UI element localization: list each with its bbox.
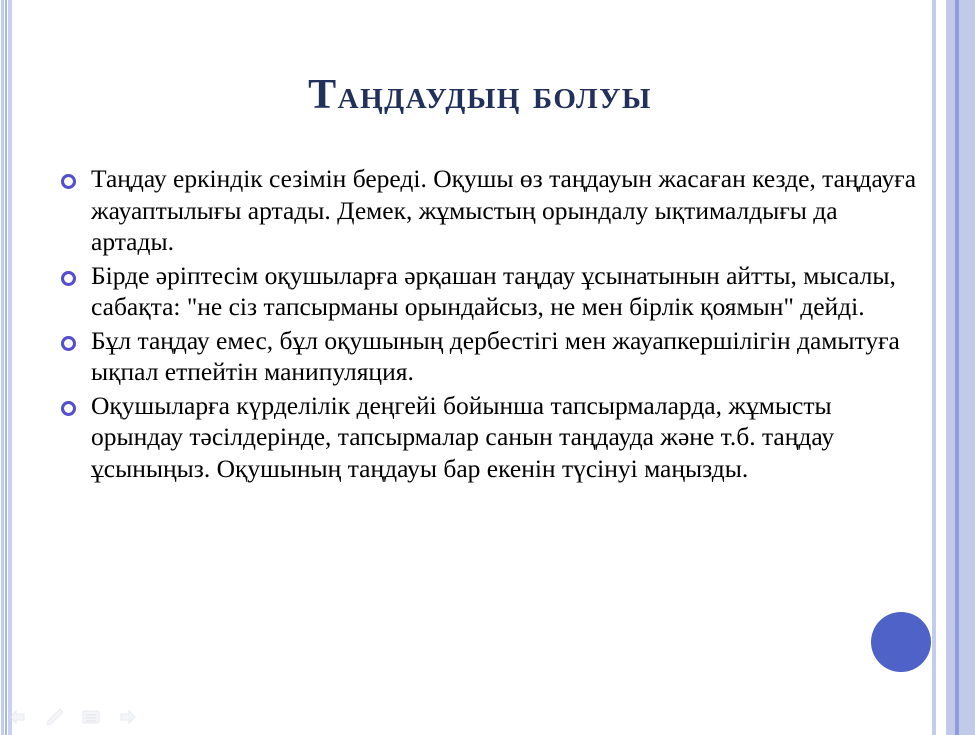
list-item-text: Таңдау еркіндік сезімін береді. Оқушы өз… <box>91 164 916 256</box>
pen-icon[interactable] <box>43 707 65 727</box>
list-item-text: Бірде әріптесім оқушыларға әрқашан таңда… <box>91 261 896 322</box>
list-item: Таңдау еркіндік сезімін береді. Оқушы өз… <box>58 163 920 258</box>
slide-title: Таңдаудың болуы <box>40 72 920 118</box>
list-item-text: Бұл таңдау емес, бұл оқушының дербестігі… <box>91 326 900 387</box>
list-item-text: Оқушыларға күрделілік деңгейі бойынша та… <box>91 391 834 483</box>
previous-arrow-icon[interactable] <box>6 707 28 727</box>
presentation-slide: Таңдаудың болуы Таңдау еркіндік сезімін … <box>0 0 975 735</box>
left-edge-stripe-mid <box>5 0 7 735</box>
list-item: Оқушыларға күрделілік деңгейі бойынша та… <box>58 390 920 485</box>
right-edge-stripe-dark <box>955 0 959 735</box>
next-arrow-icon[interactable] <box>117 707 139 727</box>
list-item: Бірде әріптесім оқушыларға әрқашан таңда… <box>58 260 920 323</box>
bullet-ring-icon <box>61 401 76 416</box>
list-item: Бұл таңдау емес, бұл оқушының дербестігі… <box>58 325 920 388</box>
left-edge-stripe-inner <box>8 0 12 735</box>
right-edge-stripe-band <box>946 0 955 735</box>
slide-bullet-list: Таңдау еркіндік сезімін береді. Оқушы өз… <box>58 163 920 486</box>
bullet-ring-icon <box>61 336 76 351</box>
left-edge-stripe-outer <box>1 0 4 735</box>
right-edge-stripe-thin <box>932 0 936 735</box>
slideshow-toolbar <box>6 705 139 729</box>
decorative-circle <box>871 612 931 672</box>
bullet-ring-icon <box>61 174 76 189</box>
menu-icon[interactable] <box>80 707 102 727</box>
right-edge-stripe-outer <box>959 0 975 735</box>
bullet-ring-icon <box>61 271 76 286</box>
